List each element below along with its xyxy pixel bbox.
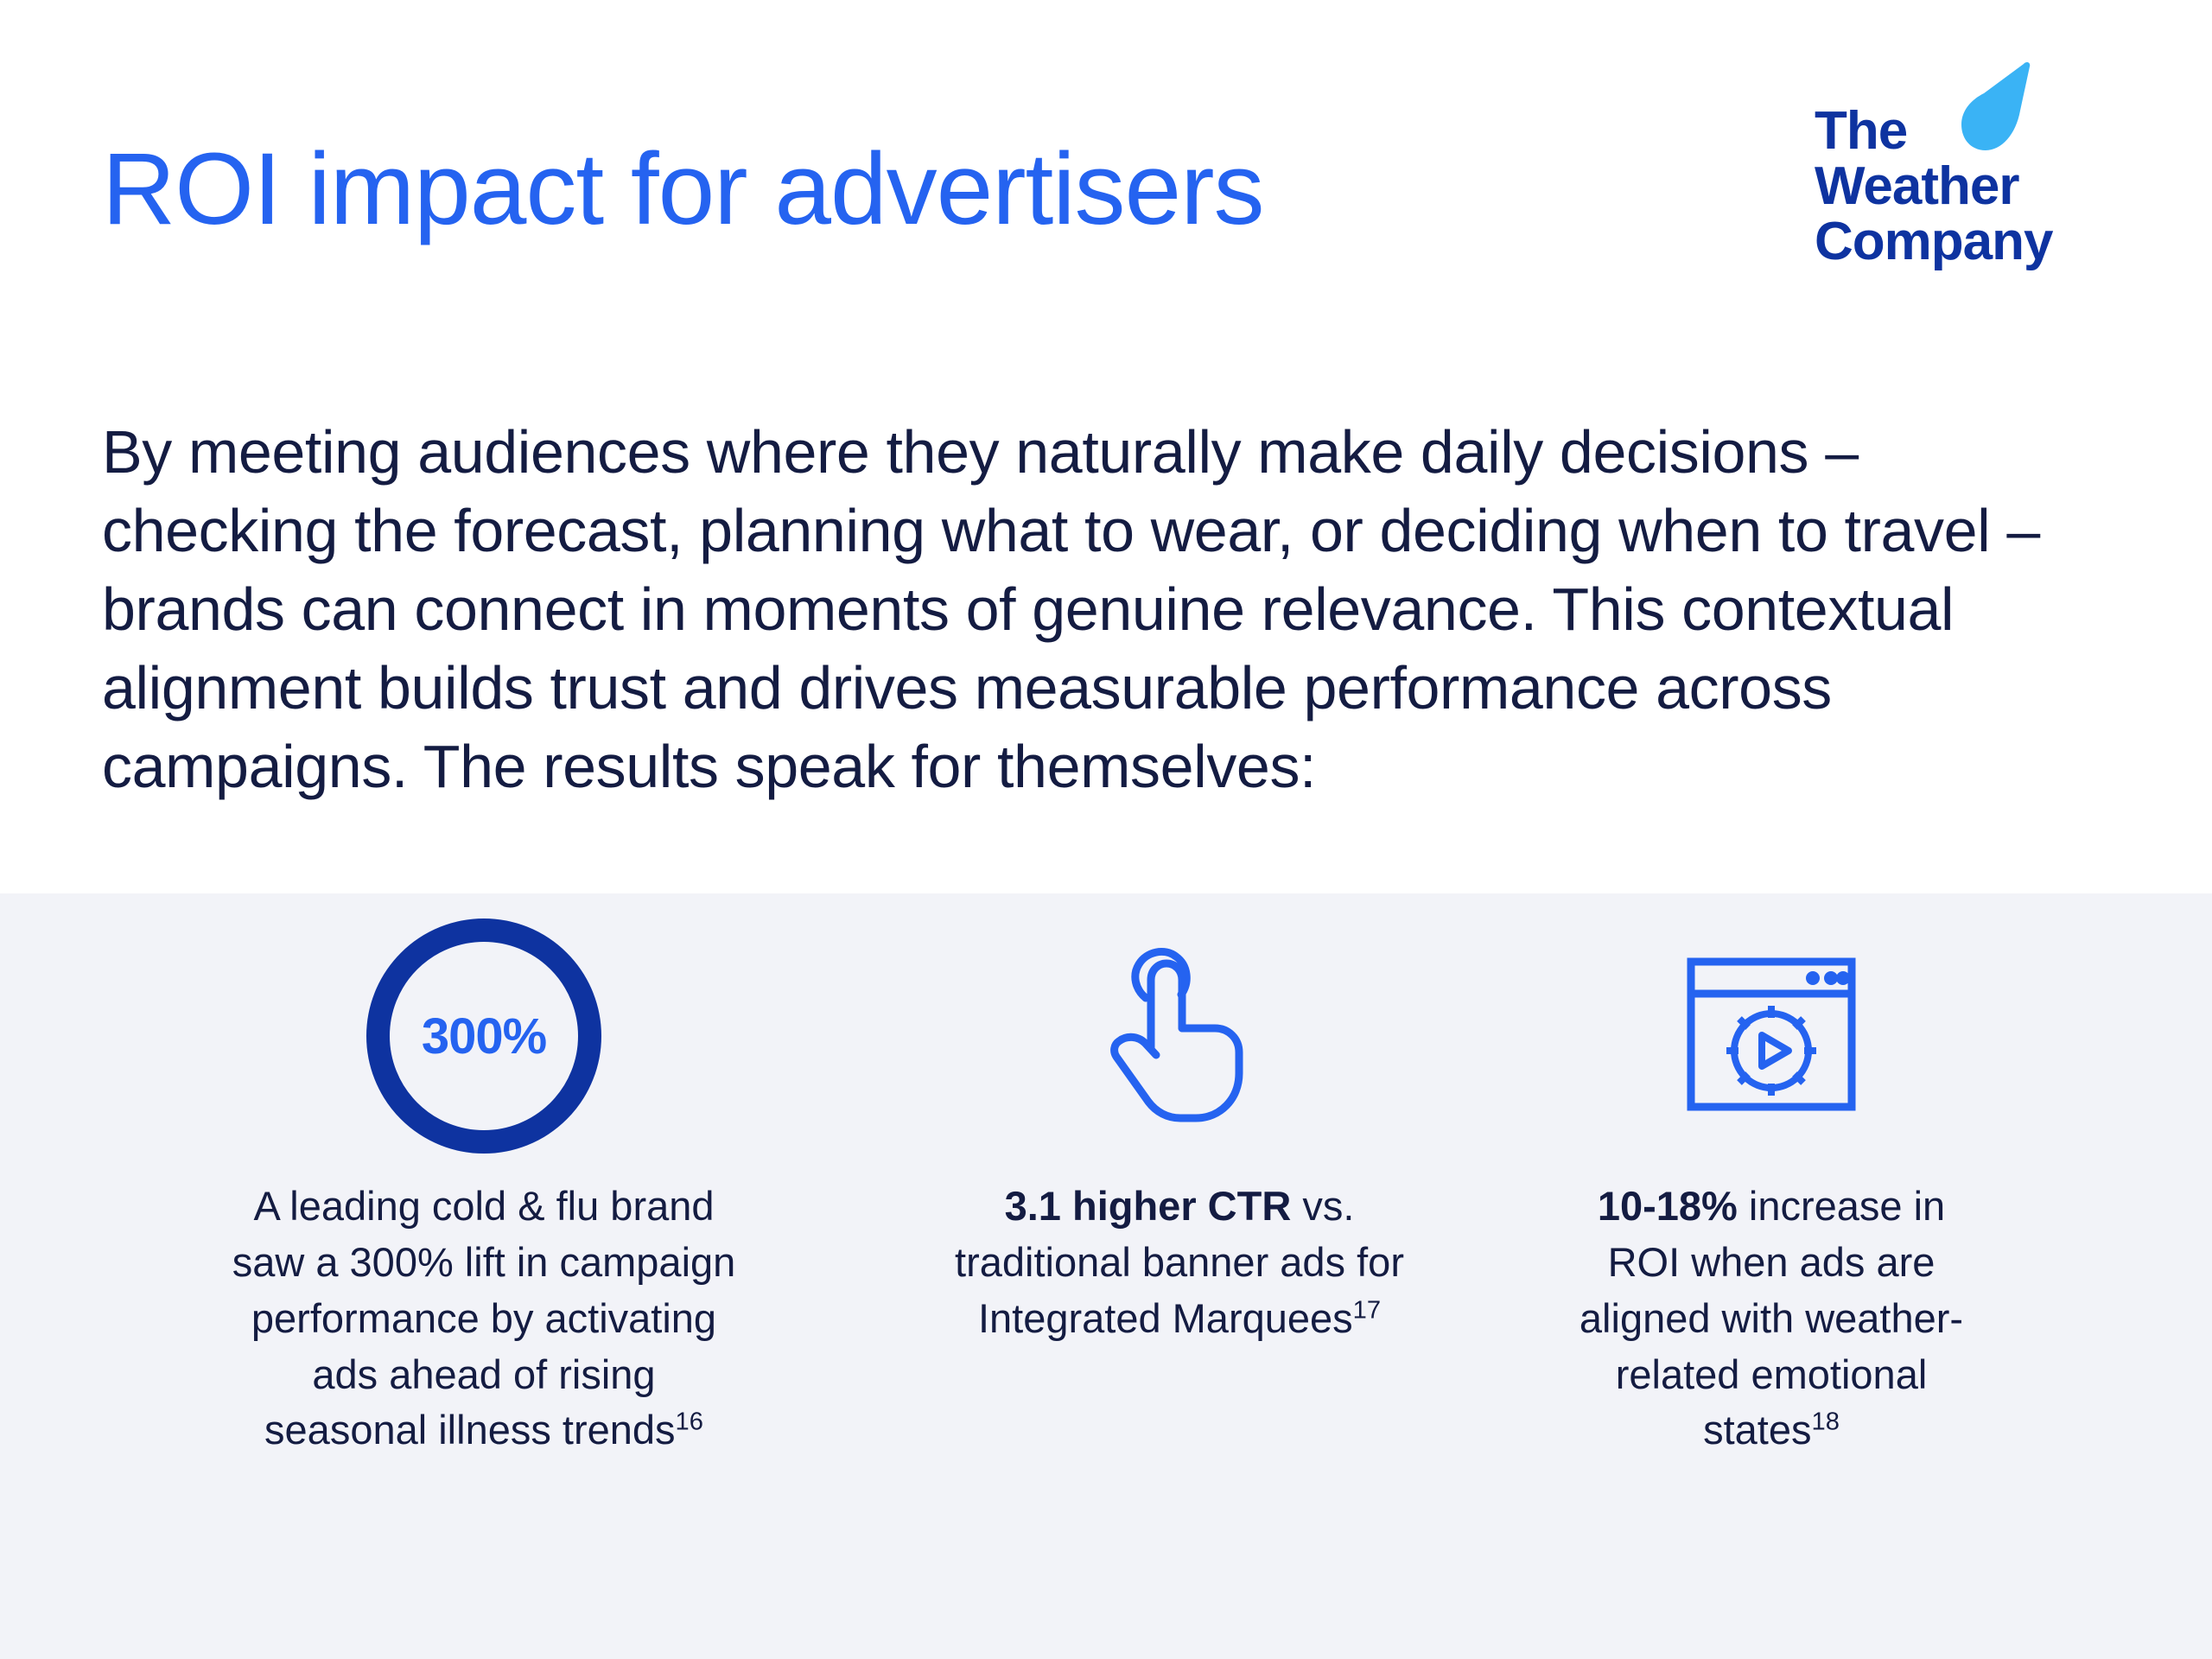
stat-caption-2-lead: 3.1 higher CTR: [1005, 1183, 1292, 1229]
progress-ring-icon: 300%: [366, 918, 601, 1154]
stat-card-1: 300% A leading cold & flu brand saw a 30…: [220, 893, 747, 1459]
stat-caption-2: 3.1 higher CTR vs. traditional banner ad…: [938, 1179, 1421, 1347]
stats-band: 300% A leading cold & flu brand saw a 30…: [0, 893, 2212, 1659]
logo-line-1-text: The: [1815, 101, 1907, 161]
water-droplet-icon: [1960, 60, 2034, 154]
logo-line-3: Company: [1815, 212, 2052, 271]
slide-root: ROI impact for advertisers The Weather C…: [0, 0, 2212, 1659]
stat-card-3: 10-18% increase in ROI when ads are alig…: [1555, 893, 1987, 1459]
footnote-marker-16: 16: [676, 1408, 703, 1436]
ring-value-label: 300%: [422, 1007, 546, 1065]
stat-card-2: 3.1 higher CTR vs. traditional banner ad…: [938, 893, 1421, 1347]
footnote-marker-18: 18: [1812, 1408, 1840, 1436]
intro-paragraph: By meeting audiences where they naturall…: [102, 413, 2081, 806]
logo-line-2: Weather: [1815, 156, 2019, 216]
stats-columns: 300% A leading cold & flu brand saw a 30…: [0, 893, 2212, 1659]
intro-paragraph-text: By meeting audiences where they naturall…: [102, 413, 2081, 806]
tap-hand-icon: [1106, 944, 1253, 1129]
footnote-marker-17: 17: [1353, 1296, 1381, 1324]
page-title: ROI impact for advertisers: [102, 138, 1263, 240]
stat-icon-1: 300%: [220, 893, 747, 1179]
browser-video-ad-icon: [1687, 957, 1856, 1116]
stat-caption-1: A leading cold & flu brand saw a 300% li…: [220, 1179, 747, 1459]
logo-line-1: The: [1815, 104, 2126, 159]
stat-caption-3: 10-18% increase in ROI when ads are alig…: [1555, 1179, 1987, 1459]
stat-icon-3: [1555, 893, 1987, 1179]
stat-icon-2: [938, 893, 1421, 1179]
stat-caption-1-rest: A leading cold & flu brand saw a 300% li…: [232, 1183, 736, 1452]
the-weather-company-logo: The Weather Company: [1815, 104, 2126, 270]
stat-caption-3-lead: 10-18%: [1598, 1183, 1738, 1229]
